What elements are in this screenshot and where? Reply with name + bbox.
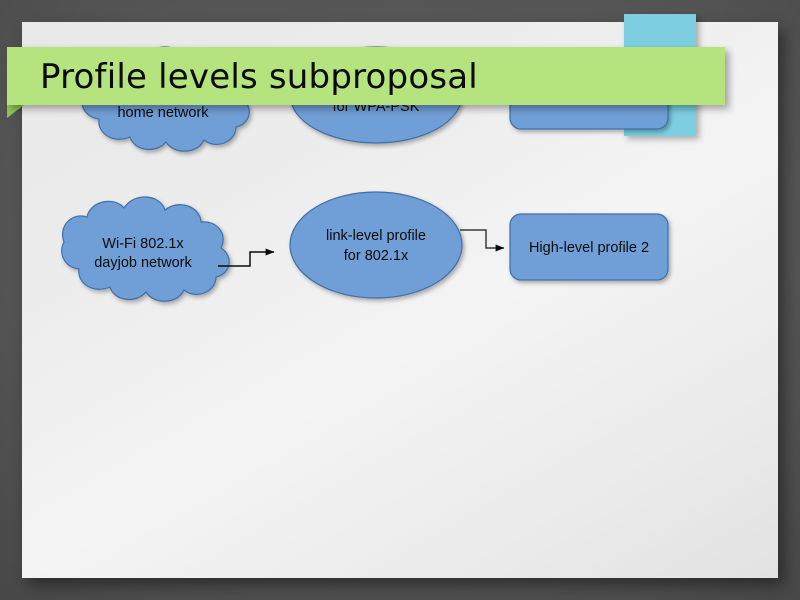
- ellipse-8021x-label-line2: for 802.1x: [344, 248, 409, 264]
- slide-title: Profile levels subproposal: [40, 52, 700, 102]
- arrow-ellipse-to-rect: [460, 230, 504, 248]
- ellipse-link-level-8021x[interactable]: [290, 192, 462, 298]
- cloud-8021x-label-line1: Wi-Fi 802.1x: [102, 236, 184, 252]
- banner-fold-decoration: [7, 105, 24, 118]
- diagram-area: Wi-Fi WPA-PSK home network link-level pr…: [22, 22, 778, 578]
- ellipse-8021x-label-line1: link-level profile: [326, 228, 426, 244]
- rect-high-level-profile-2-label: High-level profile 2: [529, 240, 649, 256]
- cloud-wpa-psk-label-line2: home network: [117, 105, 209, 121]
- cloud-8021x-label-line2: dayjob network: [94, 255, 192, 271]
- presentation-backdrop: Profile levels subproposal Wi-Fi WPA-PSK…: [0, 0, 800, 600]
